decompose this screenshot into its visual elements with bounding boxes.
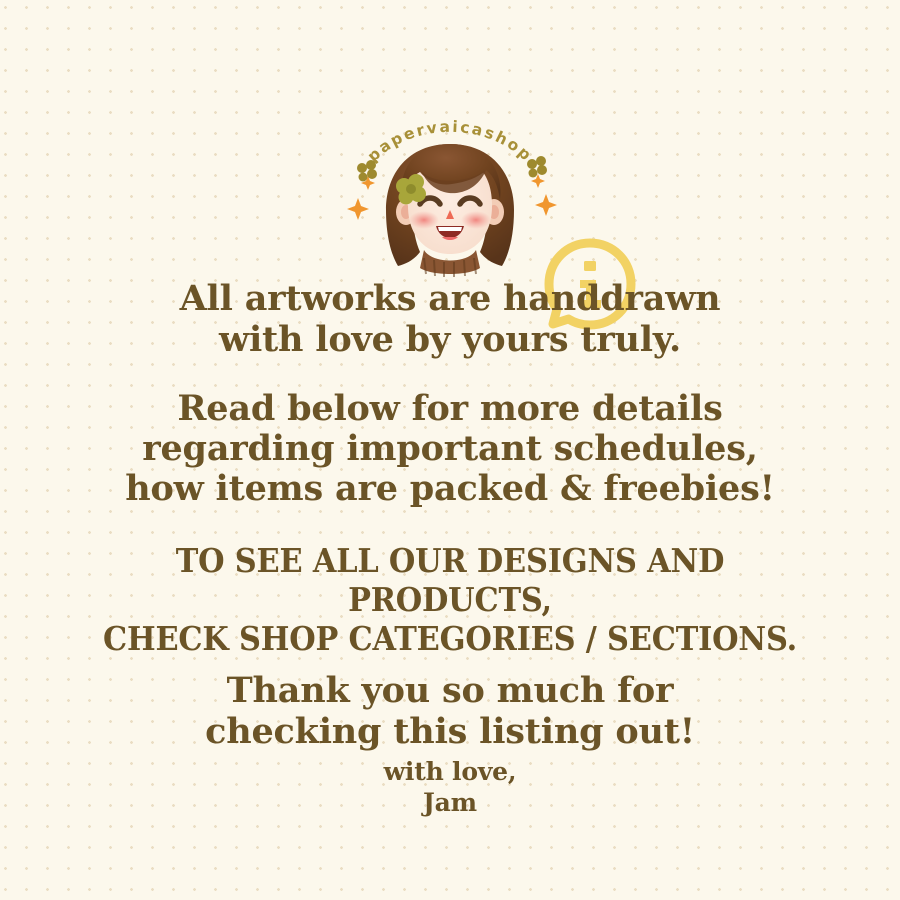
- thanks-line-2: checking this listing out!: [0, 711, 900, 752]
- details-line-1: Read below for more details: [0, 389, 900, 429]
- brand-header: papervaicashop: [0, 108, 900, 288]
- copy-column: All artworks are handdrawn with love by …: [0, 278, 900, 818]
- categories-line-2: PRODUCTS,: [36, 580, 864, 619]
- headline-line-1: All artworks are handdrawn: [0, 278, 900, 319]
- headline-block: All artworks are handdrawn with love by …: [0, 278, 900, 360]
- signature-line-1: with love,: [0, 756, 900, 787]
- info-card: papervaicashop: [0, 0, 900, 900]
- thanks-line-1: Thank you so much for: [0, 670, 900, 711]
- details-line-2: regarding important schedules,: [0, 429, 900, 469]
- signature-block: with love, Jam: [0, 756, 900, 818]
- headline-line-2: with love by yours truly.: [0, 319, 900, 360]
- categories-line-3: CHECK SHOP CATEGORIES / SECTIONS.: [36, 619, 864, 658]
- signature-name: Jam: [0, 787, 900, 818]
- clover-accent-icon: [357, 156, 547, 182]
- sparkle-icon: [347, 174, 557, 220]
- categories-line-1: TO SEE ALL OUR DESIGNS AND: [36, 541, 864, 580]
- details-block: Read below for more details regarding im…: [0, 389, 900, 509]
- thanks-block: Thank you so much for checking this list…: [0, 670, 900, 752]
- details-line-3: how items are packed & freebies!: [0, 469, 900, 509]
- decorative-sparkles: [340, 146, 570, 266]
- categories-block: TO SEE ALL OUR DESIGNS AND PRODUCTS, CHE…: [0, 541, 900, 658]
